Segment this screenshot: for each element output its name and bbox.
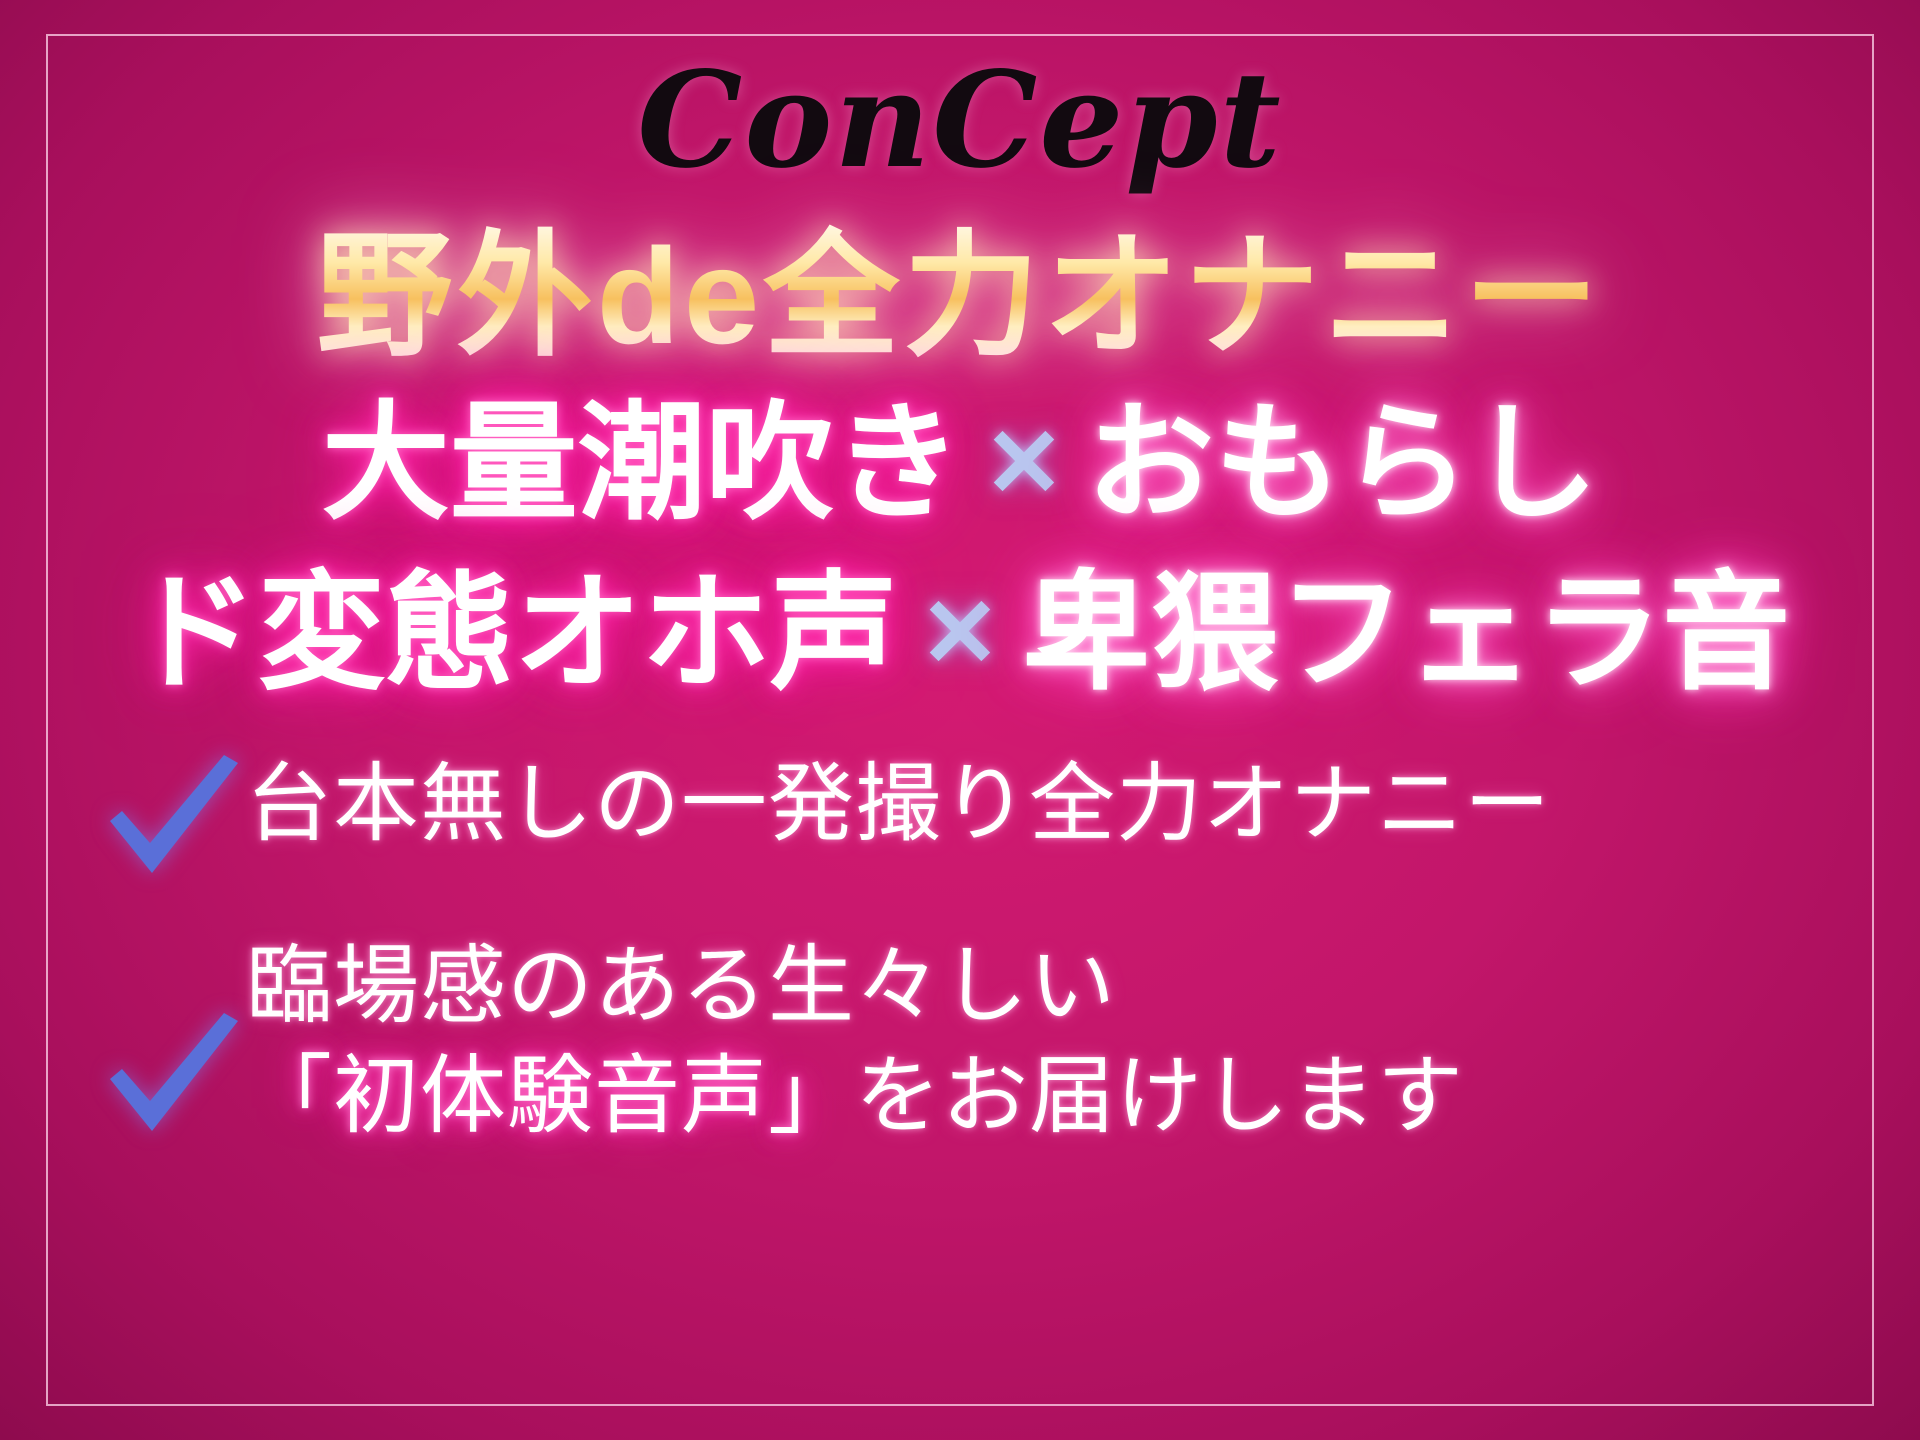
gold-headline: 野外de全力オナニー (0, 228, 1920, 364)
check-icon (96, 751, 246, 901)
list-item: 臨場感のある生々しい 「初体験音声」をお届けします (96, 927, 1850, 1159)
feature-row-1-left: 大量潮吹き (322, 400, 962, 528)
list-item-line1: 臨場感のある生々しい (246, 938, 1116, 1034)
feature-row-1-right: おもらし (1086, 400, 1598, 528)
poster-canvas: ConCept 野外de全力オナニー 大量潮吹き ✕ おもらし ド変態オホ声 ✕… (0, 0, 1920, 1440)
feature-row-2-left: ド変態オホ声 (130, 570, 898, 698)
feature-row-1: 大量潮吹き ✕ おもらし (0, 400, 1920, 528)
page-title: ConCept (0, 52, 1920, 191)
list-item-label: 臨場感のある生々しい 「初体験音声」をお届けします (246, 927, 1850, 1151)
list-item-label: 台本無しの一発撮り全力オナニー (246, 745, 1850, 859)
cross-icon: ✕ (920, 586, 1000, 682)
check-icon (96, 1009, 246, 1159)
feature-row-2: ド変態オホ声 ✕ 卑猥フェラ音 (0, 570, 1920, 698)
feature-row-2-right: 卑猥フェラ音 (1022, 570, 1790, 698)
list-item-highlight: 「初体験音声」 (246, 1048, 855, 1144)
cross-icon: ✕ (984, 416, 1064, 512)
list-item: 台本無しの一発撮り全力オナニー (96, 745, 1850, 901)
gold-headline-text: 野外de全力オナニー (317, 220, 1604, 372)
list-item-line2-rest: をお届けします (855, 1048, 1464, 1144)
checklist: 台本無しの一発撮り全力オナニー 臨場感のある生々しい 「初体験音声」をお届けしま… (96, 745, 1850, 1185)
